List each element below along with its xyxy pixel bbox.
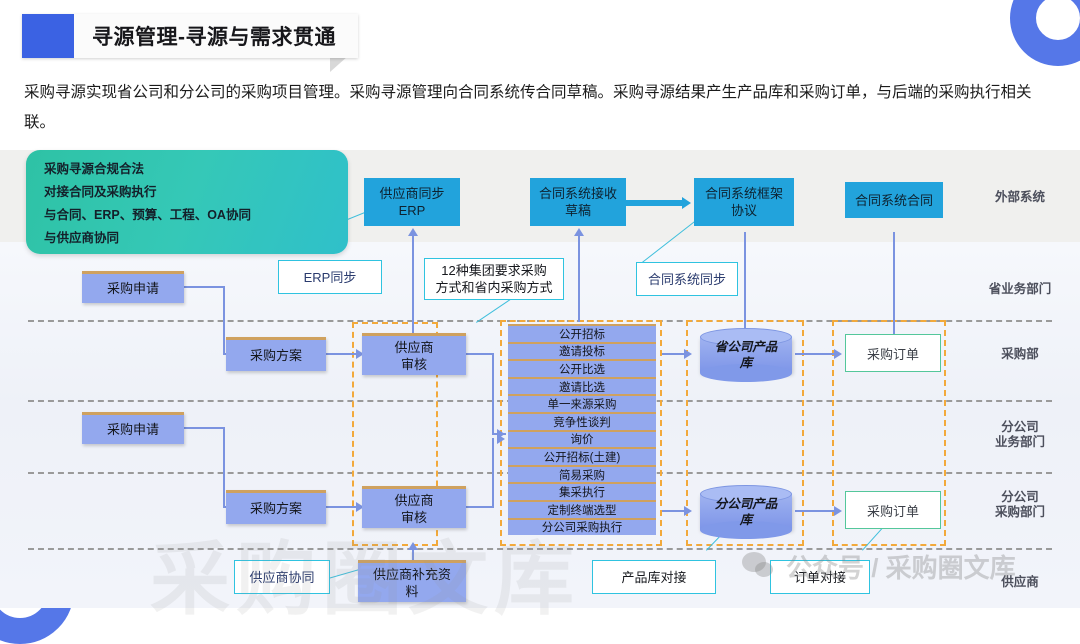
page-title: 寻源管理-寻源与需求贯通 [74,14,358,58]
lane-label-branch-biz-line1: 分公司 [1001,420,1039,434]
method-list-item[interactable]: 公开比选 [508,359,656,377]
arrow-db2-to-order2 [834,506,842,516]
external-box-supplier-erp-line2: ERP [399,203,426,218]
arrow-methods-to-db1 [684,349,692,359]
connector-req2-h1 [183,427,225,429]
arrow-db1-to-order1 [834,349,842,359]
external-box-supplier-erp-line1: 供应商同步 [379,186,444,201]
connector-audit1-v [492,353,494,435]
decorative-ring-top-right [1010,0,1080,66]
highlight-line-1: 采购寻源合规合法 [44,158,348,181]
external-box-contract-framework-line1: 合同系统框架 [705,186,783,201]
lane-label-branch-proc-line2: 采购部门 [995,505,1045,519]
lane-divider-4 [28,548,1052,550]
external-box-contract-framework-line2: 协议 [731,203,757,218]
process-box-supplier-audit-1-line2: 审核 [401,357,427,372]
procurement-method-list: 公开招标邀请投标公开比选邀请比选单一来源采购竞争性谈判询价公开招标(土建)简易采… [508,324,656,535]
database-branch-product-label: 分公司产品 库 [700,485,792,539]
connector-db2-to-order2 [795,510,837,512]
lane-label-procurement: 采购部 [974,347,1066,362]
database-province-product-line1: 省公司产品 [715,340,778,354]
arrow-audit2-to-methods [497,434,505,444]
process-box-supplier-supplement-line1: 供应商补充资 [373,567,451,582]
arrow-riser-supply-doc [408,542,418,550]
process-box-purchase-request-1-label: 采购申请 [107,280,159,297]
method-list-item[interactable]: 分公司采购执行 [508,518,656,536]
method-list-item[interactable]: 公开招标 [508,324,656,342]
connector-db1-to-order1 [795,353,837,355]
note-order-docking[interactable]: 订单对接 [770,560,870,594]
method-list-item[interactable]: 单一来源采购 [508,394,656,412]
connector-audit1-h [466,353,494,355]
order-box-branch[interactable]: 采购订单 [845,491,941,529]
method-list-item[interactable]: 定制终端选型 [508,500,656,518]
lane-label-branch-proc: 分公司 采购部门 [974,490,1066,520]
database-branch-product-line2: 库 [740,513,753,527]
database-branch-product[interactable]: 分公司产品 库 [700,485,792,539]
process-box-supplier-audit-2-line2: 审核 [401,510,427,525]
arrow-riser-draft [574,228,584,236]
note-erp-sync-label: ERP同步 [304,269,357,286]
note-procurement-methods-line2: 方式和省内采购方式 [435,280,552,295]
connector-methods-to-db2 [662,510,686,512]
method-list-item[interactable]: 邀请比选 [508,377,656,395]
title-tail [330,56,348,72]
title-accent-swatch [22,14,74,58]
connector-plan1-h [326,353,358,355]
process-box-supplier-audit-2-line1: 供应商 [394,493,433,508]
note-contract-sync[interactable]: 合同系统同步 [636,262,738,296]
method-list-item[interactable]: 简易采购 [508,465,656,483]
connector-riser-draft [578,232,580,322]
note-product-db-docking[interactable]: 产品库对接 [592,560,716,594]
highlight-callout: 采购寻源合规合法 对接合同及采购执行 与合同、ERP、预算、工程、OA协同 与供… [26,150,348,254]
database-province-product[interactable]: 省公司产品 库 [700,328,792,382]
connector-draft-to-framework [626,200,684,206]
note-procurement-methods-line1: 12种集团要求采购 [441,263,546,278]
connector-audit2-v [492,438,494,508]
arrow-draft-to-framework [682,197,691,209]
note-contract-sync-label: 合同系统同步 [648,271,726,288]
connector-riser-contract [893,232,895,346]
slide-canvas: 外部系统 省业务部门 采购部 分公司 业务部门 分公司 采购部门 供应商 [0,0,1080,608]
process-box-supplier-audit-1-line1: 供应商 [394,340,433,355]
database-branch-product-line1: 分公司产品 [715,497,778,511]
lane-label-supplier: 供应商 [974,575,1066,590]
connector-req2-v [223,427,225,507]
process-box-supplier-audit-1[interactable]: 供应商 审核 [362,333,466,375]
note-product-db-docking-label: 产品库对接 [621,569,686,586]
external-box-contract-framework[interactable]: 合同系统框架 协议 [694,178,794,226]
external-box-contract-draft[interactable]: 合同系统接收 草稿 [530,178,626,226]
process-box-supplier-supplement[interactable]: 供应商补充资 料 [358,560,466,602]
connector-riser-erp [412,232,414,348]
intro-paragraph: 采购寻源实现省公司和分公司的采购项目管理。采购寻源管理向合同系统传合同草稿。采购… [24,78,1054,138]
lane-label-branch-proc-line1: 分公司 [1001,490,1039,504]
connector-plan2-h [326,506,358,508]
arrow-methods-to-db2 [684,506,692,516]
method-list-item[interactable]: 询价 [508,430,656,448]
external-box-contract-system-label: 合同系统合同 [855,192,933,209]
database-province-product-label: 省公司产品 库 [700,328,792,382]
external-box-contract-draft-line2: 草稿 [565,203,591,218]
order-box-branch-label: 采购订单 [867,501,919,520]
process-box-purchase-request-2-label: 采购申请 [107,421,159,438]
highlight-line-4: 与供应商协同 [44,227,348,250]
order-box-province[interactable]: 采购订单 [845,334,941,372]
process-box-purchase-plan-2-label: 采购方案 [250,500,302,517]
method-list-item[interactable]: 邀请投标 [508,342,656,360]
lane-label-branch-biz: 分公司 业务部门 [974,420,1066,450]
note-supplier-collaboration[interactable]: 供应商协同 [234,560,330,594]
connector-audit2-h [466,506,494,508]
note-procurement-methods[interactable]: 12种集团要求采购 方式和省内采购方式 [424,258,564,300]
process-box-supplier-supplement-line2: 料 [405,584,418,599]
process-box-purchase-request-2[interactable]: 采购申请 [82,412,184,444]
connector-req1-v [223,286,225,354]
lane-label-branch-biz-line2: 业务部门 [995,435,1045,449]
method-list-item[interactable]: 竞争性谈判 [508,412,656,430]
external-box-supplier-erp[interactable]: 供应商同步 ERP [364,178,460,226]
process-box-purchase-plan-2[interactable]: 采购方案 [226,490,326,524]
process-box-purchase-plan-1[interactable]: 采购方案 [226,337,326,371]
external-box-contract-system[interactable]: 合同系统合同 [845,182,943,218]
highlight-line-2: 对接合同及采购执行 [44,181,348,204]
highlight-line-3: 与合同、ERP、预算、工程、OA协同 [44,204,348,227]
connector-req1-h1 [183,286,225,288]
lane-label-external: 外部系统 [974,190,1066,205]
process-box-purchase-request-1[interactable]: 采购申请 [82,271,184,303]
database-province-product-line2: 库 [740,356,753,370]
slide-title-bar: 寻源管理-寻源与需求贯通 [22,14,358,58]
note-erp-sync[interactable]: ERP同步 [278,260,382,294]
method-list-item[interactable]: 集采执行 [508,482,656,500]
note-order-docking-label: 订单对接 [794,569,846,586]
note-supplier-collaboration-label: 供应商协同 [249,569,314,586]
method-list-item[interactable]: 公开招标(土建) [508,447,656,465]
external-box-contract-draft-line1: 合同系统接收 [539,186,617,201]
process-box-supplier-audit-2[interactable]: 供应商 审核 [362,486,466,528]
arrow-riser-erp [408,228,418,236]
order-box-province-label: 采购订单 [867,344,919,363]
connector-methods-to-db1 [662,353,686,355]
lane-label-province-biz: 省业务部门 [974,282,1066,297]
process-box-purchase-plan-1-label: 采购方案 [250,347,302,364]
